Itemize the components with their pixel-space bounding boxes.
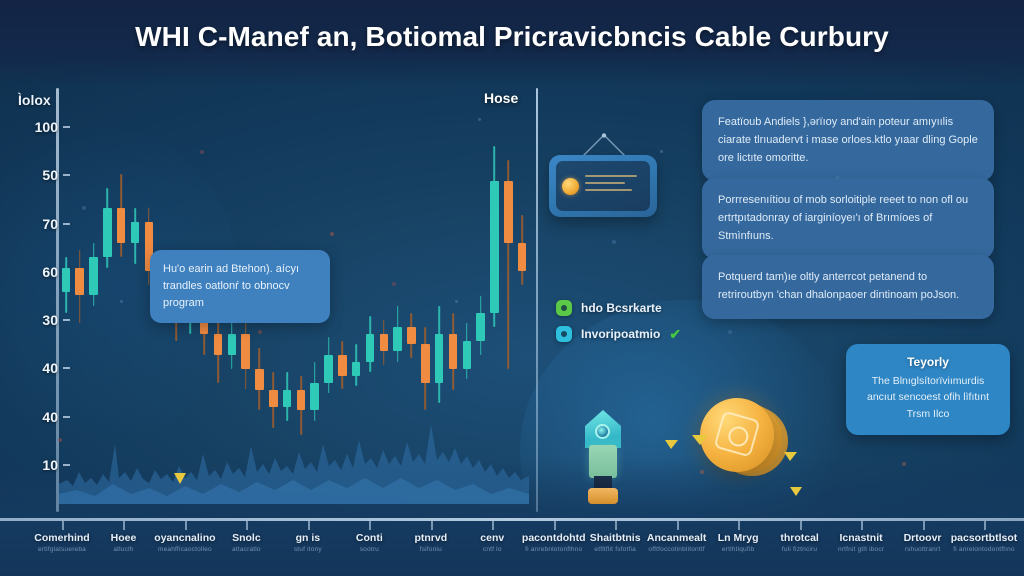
x-axis-tick-mark (246, 521, 248, 530)
x-axis-tick-mark (123, 521, 125, 530)
x-axis-tick: pacontdohtdfi anrebnlotonflhno (522, 532, 586, 553)
x-axis-tick-mark (923, 521, 925, 530)
candlestick-body (380, 334, 389, 351)
y-axis-tick-label: 30 (42, 312, 58, 328)
candlestick-body (214, 334, 223, 355)
x-axis-tick-mark (554, 521, 556, 530)
candlestick (504, 82, 513, 512)
tooltip-title: Teyorly (858, 355, 998, 369)
candlestick-body (435, 334, 444, 383)
tag-card-icon[interactable] (549, 155, 657, 217)
x-axis-tick: Hoeeatluclh (111, 532, 137, 553)
x-axis-tick-label: Shaitbtnis (590, 532, 641, 544)
tooltip-card: Teyorly The Blnıglsítorïviımurdis ancıut… (846, 344, 1010, 435)
x-axis-tick: Contisootru (356, 532, 383, 553)
candlestick-body (255, 369, 264, 390)
x-axis-tick-sublabel: cntf lo (480, 546, 504, 553)
x-axis-tick-mark (800, 521, 802, 530)
y-axis-tick-label: 40 (42, 409, 58, 425)
candlestick-body (393, 327, 402, 351)
infographic-canvas: WHI C-Manef an, Botiomal Pricravicbncis … (0, 0, 1024, 576)
coin-icon (562, 178, 579, 195)
x-axis-tick-mark (431, 521, 433, 530)
y-axis-tick-label: 10 (42, 457, 58, 473)
x-axis-tick-mark (308, 521, 310, 530)
x-axis-tick-label: Snolc (232, 532, 261, 544)
candlestick-chart-panel: Ìolox Hose 10050706030404010 Hu'o earin … (0, 82, 536, 512)
decorative-speck (700, 470, 704, 474)
x-axis-tick-mark (185, 521, 187, 530)
tag-card-surface (556, 161, 650, 211)
x-axis-tick-sublabel: atluclh (111, 546, 137, 553)
x-axis-tick: oyancnalinomeahfficaoctolleo (154, 532, 215, 553)
candlestick-body (366, 334, 375, 362)
candlestick (421, 82, 430, 512)
x-axis-tick-label: Drtoovr (904, 532, 942, 544)
decorative-speck (58, 438, 62, 442)
rocket-icon (580, 410, 626, 502)
check-icon: ✔ (669, 327, 681, 341)
x-axis-tick-sublabel: fuli fiztnciru (780, 546, 819, 553)
x-axis-tick-sublabel: fsifoniu (414, 546, 447, 553)
x-axis-tick: Icnastnitnrtfnit gtlt ibocr (838, 532, 884, 553)
candlestick-body (62, 268, 71, 292)
y-axis-tick-label: 100 (35, 119, 58, 135)
x-axis-tick-label: Icnastnit (838, 532, 884, 544)
candlestick (338, 82, 347, 512)
x-axis-tick-label: pacontdohtd (522, 532, 586, 544)
candlestick-body (131, 222, 140, 243)
x-axis-tick-sublabel: stuf itony (294, 546, 322, 553)
tag-hanger-strings (577, 133, 631, 157)
info-card: Featïoub Andiels },ərïıoy and'ain poteur… (702, 100, 994, 181)
candlestick (490, 82, 499, 512)
coin-glyph (713, 410, 760, 457)
panel-divider (536, 88, 538, 512)
y-axis-title: Ìolox (18, 92, 51, 108)
x-axis-tick-label: Conti (356, 532, 383, 544)
x-axis-tick-mark (861, 521, 863, 530)
x-axis-tick-label: pacsortbtlsot (951, 532, 1018, 544)
candlestick (407, 82, 416, 512)
x-axis-tick-sublabel: offtfoccotinblitonttf (647, 546, 707, 553)
x-axis-tick: Drtoovrrshuottranrt (904, 532, 942, 553)
candlestick-body (117, 208, 126, 243)
decorative-speck (330, 232, 334, 236)
candlestick-body (407, 327, 416, 344)
candlestick-body (476, 313, 485, 341)
candlestick-body (228, 334, 237, 355)
candlestick (366, 82, 375, 512)
y-axis-tick-label: 40 (42, 360, 58, 376)
x-axis-tick-label: Ancanmealt (647, 532, 707, 544)
x-axis-tick-mark (62, 521, 64, 530)
candlestick-body (103, 208, 112, 257)
x-axis-tick: Ln Mrygertlhtiqufib (718, 532, 759, 553)
rocket-body (589, 445, 617, 478)
x-axis-tick: cenvcntf lo (480, 532, 504, 553)
candlestick-body (518, 243, 527, 271)
x-axis-tick-sublabel: fi anrelontodontfhno (951, 546, 1018, 553)
x-axis-tick-label: Ln Mryg (718, 532, 759, 544)
candlestick (380, 82, 389, 512)
candlestick-body (269, 390, 278, 407)
chart-callout-box: Hu'o earin ad Btehon). aícyı trandles oa… (150, 250, 330, 323)
candlestick (75, 82, 84, 512)
candlestick-body (283, 390, 292, 407)
x-axis-tick: Snolcattacratlo (232, 532, 261, 553)
decorative-speck (82, 206, 86, 210)
chart-legend: hdo BcsrkarteInvoripoatmio✔ (556, 300, 681, 342)
tooltip-body: The Blnıglsítorïviımurdis ancıut sencoes… (858, 373, 998, 422)
candlestick (449, 82, 458, 512)
legend-item[interactable]: hdo Bcsrkarte (556, 300, 681, 316)
candlestick (131, 82, 140, 512)
candlestick-body (463, 341, 472, 369)
x-axis-tick-label: ptnrvd (414, 532, 447, 544)
x-axis-tick: pacsortbtlsotfi anrelontodontfhno (951, 532, 1018, 553)
x-axis-tick-sublabel: sootru (356, 546, 383, 553)
legend-item-label: Invoripoatmio (581, 327, 660, 341)
candlestick (62, 82, 71, 512)
x-axis-tick-sublabel: ertlhtiqufib (718, 546, 759, 553)
tag-text-line (585, 182, 625, 184)
decorative-speck (392, 282, 396, 286)
x-axis-tick-mark (615, 521, 617, 530)
candlestick (89, 82, 98, 512)
candlestick (393, 82, 402, 512)
candlestick (476, 82, 485, 512)
decorative-speck (612, 240, 616, 244)
x-axis-tick-sublabel: attacratlo (232, 546, 261, 553)
candlestick (117, 82, 126, 512)
decorative-speck (902, 462, 906, 466)
x-axis-line (0, 518, 1024, 521)
x-axis-tick-sublabel: etfltflit fsfotfia (590, 546, 641, 553)
x-axis-tick-sublabel: nrtfnit gtlt ibocr (838, 546, 884, 553)
candlestick (518, 82, 527, 512)
candlestick (103, 82, 112, 512)
x-axis-tick-label: gn is (294, 532, 322, 544)
candlestick-body (490, 181, 499, 313)
candlestick-body (75, 268, 84, 296)
coin-stack-icon (700, 398, 792, 480)
volume-silhouette (59, 384, 529, 504)
tag-text-line (585, 189, 632, 191)
decorative-speck (200, 150, 204, 154)
rocket-eye (595, 424, 610, 439)
legend-item-label: hdo Bcsrkarte (581, 301, 662, 315)
candlestick-body (297, 390, 306, 411)
decorative-speck (258, 330, 262, 334)
x-axis-tick-mark (738, 521, 740, 530)
x-axis-tick-label: throtcal (780, 532, 819, 544)
candlestick-body (241, 334, 250, 369)
x-axis-tick: throtcalfuli fiztnciru (780, 532, 819, 553)
x-axis-tick-label: Comerhind (34, 532, 89, 544)
y-axis-tick-label: 60 (42, 264, 58, 280)
candlestick (435, 82, 444, 512)
x-axis-tick-label: Hoee (111, 532, 137, 544)
x-axis-tick: Shaitbtnisetfltflit fsfotfia (590, 532, 641, 553)
coin-icon (700, 398, 774, 472)
legend-swatch-icon (556, 326, 572, 342)
decorative-speck (728, 330, 732, 334)
x-axis-tick: Comerhindertlfglatsuereba (34, 532, 89, 553)
candlestick (352, 82, 361, 512)
candlestick-body (324, 355, 333, 383)
candlestick-body (421, 344, 430, 382)
y-axis-tick-label: 50 (42, 167, 58, 183)
x-axis-tick-label: oyancnalino (154, 532, 215, 544)
x-axis-tick: Ancanmealtofftfoccotinblitonttf (647, 532, 707, 553)
x-axis-tick-sublabel: meahfficaoctolleo (154, 546, 215, 553)
candlestick-body (89, 257, 98, 295)
x-axis-tick-mark (369, 521, 371, 530)
candlestick-body (310, 383, 319, 411)
candlestick-body (338, 355, 347, 376)
x-axis-tick-sublabel: rshuottranrt (904, 546, 942, 553)
legend-swatch-icon (556, 300, 572, 316)
y-axis-tick-label: 70 (42, 216, 58, 232)
x-axis-tick: gn isstuf itony (294, 532, 322, 553)
legend-item[interactable]: Invoripoatmio✔ (556, 326, 681, 342)
tag-text-line (585, 175, 637, 177)
rocket-base (588, 488, 618, 504)
x-axis-tick-mark (677, 521, 679, 530)
info-card: Potquerd tam)ıe oltly anterrcot petanend… (702, 255, 994, 319)
x-axis-tick-sublabel: fi anrebnlotonflhno (522, 546, 586, 553)
candlestick-body (449, 334, 458, 369)
candlestick-body (352, 362, 361, 376)
x-axis-tick-mark (492, 521, 494, 530)
x-axis-tick-sublabel: ertlfglatsuereba (34, 546, 89, 553)
candlestick-body (504, 181, 513, 244)
x-axis-tick-mark (984, 521, 986, 530)
info-card: Porrresenıítiou of mob sorloitiple reeet… (702, 178, 994, 259)
candlestick (463, 82, 472, 512)
x-axis-tick: ptnrvdfsifoniu (414, 532, 447, 553)
page-title: WHI C-Manef an, Botiomal Pricravicbncis … (0, 21, 1024, 53)
x-axis-tick-label: cenv (480, 532, 504, 544)
